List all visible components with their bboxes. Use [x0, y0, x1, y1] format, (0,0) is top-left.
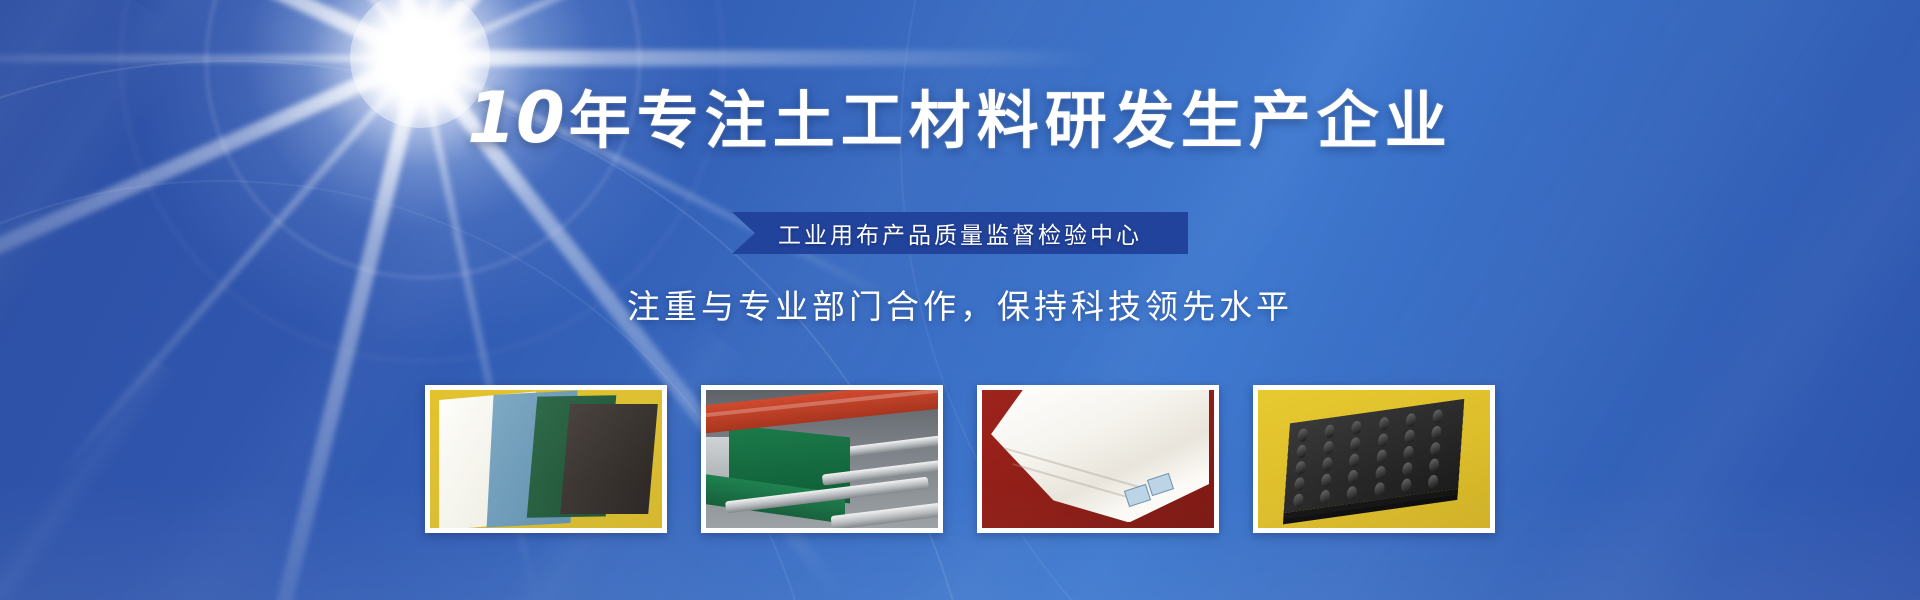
drainage-dimple — [1351, 420, 1362, 435]
drainage-dimple — [1376, 449, 1387, 464]
drainage-dimple — [1297, 428, 1308, 443]
drainage-dimple — [1324, 424, 1335, 439]
headline-text: 年专注土工材料研发生产企业 — [569, 84, 1453, 157]
drainage-dimple — [1375, 465, 1386, 480]
drainage-dimple — [1322, 457, 1333, 472]
bottom-sheen — [0, 480, 1920, 600]
drainage-dimple — [1404, 429, 1415, 444]
headline: 10年专注土工材料研发生产企业 — [0, 83, 1920, 153]
drainage-dimple — [1430, 441, 1441, 456]
drainage-dimple — [1402, 461, 1413, 476]
ribbon-container: 工业用布产品质量监督检验中心 — [0, 212, 1920, 254]
drainage-dimple — [1403, 445, 1414, 460]
hero-banner: 10年专注土工材料研发生产企业 工业用布产品质量监督检验中心 注重与专业部门合作… — [0, 0, 1920, 600]
drainage-dimple — [1432, 409, 1443, 424]
certification-ribbon: 工业用布产品质量监督检验中心 — [732, 212, 1188, 254]
drainage-dimple — [1431, 425, 1442, 440]
ribbon-label: 工业用布产品质量监督检验中心 — [778, 216, 1142, 250]
drainage-dimple — [1429, 458, 1440, 473]
red-gantry — [706, 390, 938, 434]
drainage-dimple — [1377, 433, 1388, 448]
headline-number: 10 — [467, 77, 564, 159]
drainage-dimple — [1405, 413, 1416, 428]
subline: 注重与专业部门合作，保持科技领先水平 — [0, 280, 1920, 328]
drainage-dimple — [1350, 437, 1361, 452]
drainage-dimple — [1323, 440, 1334, 455]
drainage-dimple — [1296, 444, 1307, 459]
drainage-dimple — [1378, 417, 1389, 432]
drainage-dimple — [1349, 453, 1360, 468]
drainage-dimple — [1295, 460, 1306, 475]
